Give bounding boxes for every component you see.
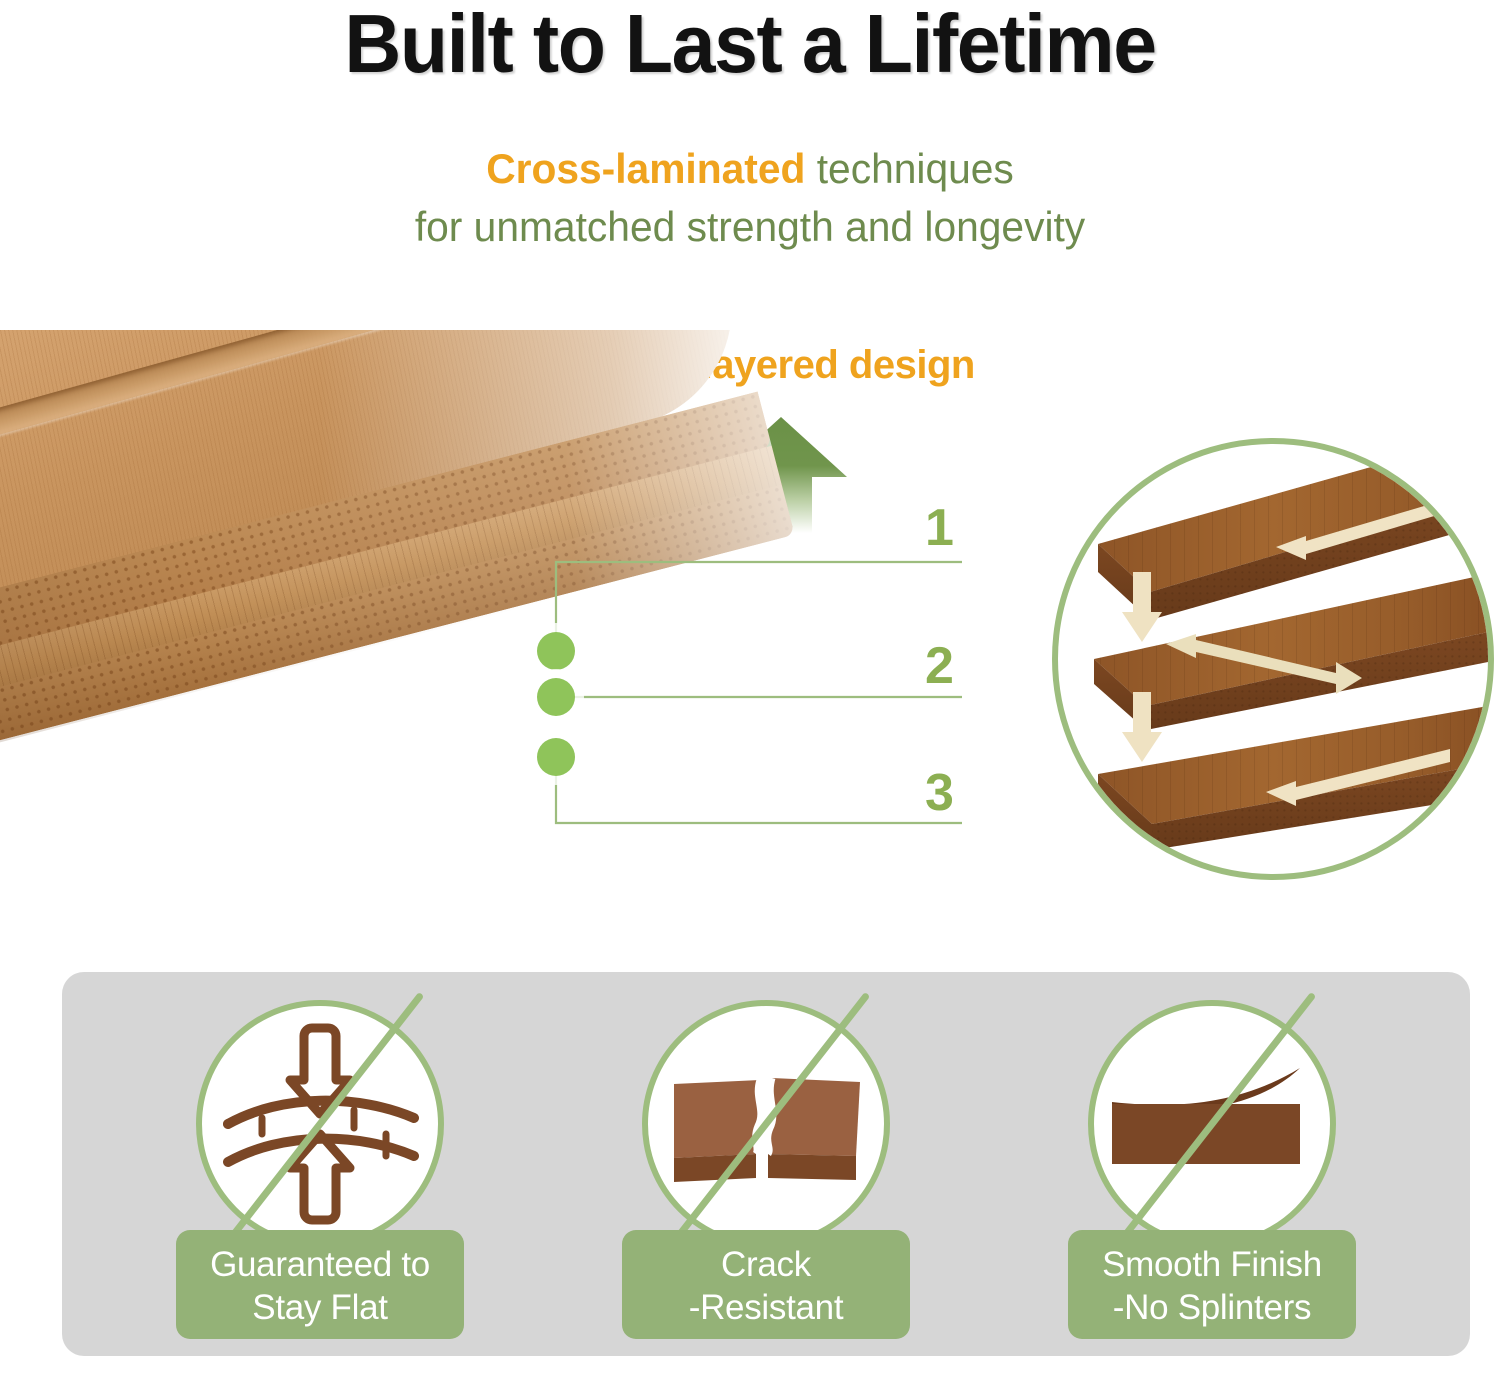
feature-label-line-2: -Resistant bbox=[630, 1287, 902, 1330]
subtitle-line-1-rest: techniques bbox=[805, 145, 1013, 192]
callout-number-1: 1 bbox=[925, 502, 954, 554]
layer-marker-dot-icon bbox=[537, 678, 575, 716]
feature-label-line-1: Crack bbox=[630, 1244, 902, 1287]
board-body bbox=[0, 330, 788, 760]
subtitle-emphasis: Cross-laminated bbox=[486, 145, 805, 192]
bamboo-board-photo bbox=[0, 330, 840, 910]
feature-card-smooth-finish[interactable]: Smooth Finish -No Splinters bbox=[1042, 972, 1382, 1356]
exploded-layers-diagram-icon bbox=[1052, 438, 1494, 880]
feature-card-no-warping[interactable]: Guaranteed to Stay Flat bbox=[150, 972, 490, 1356]
feature-label-line-2: -No Splinters bbox=[1076, 1287, 1348, 1330]
feature-card-crack-resistant[interactable]: Crack -Resistant bbox=[596, 972, 936, 1356]
layer-marker-dot-icon bbox=[537, 738, 575, 776]
feature-label-crack-resistant: Crack -Resistant bbox=[622, 1230, 910, 1339]
feature-label-smooth-finish: Smooth Finish -No Splinters bbox=[1068, 1230, 1356, 1339]
no-splinter-icon bbox=[1088, 1000, 1336, 1248]
feature-label-line-1: Smooth Finish bbox=[1076, 1244, 1348, 1287]
feature-label-line-1: Guaranteed to bbox=[184, 1244, 456, 1287]
feature-panel: Guaranteed to Stay Flat Crack bbox=[62, 972, 1470, 1356]
layer-marker-dot-icon bbox=[537, 632, 575, 670]
no-warping-icon bbox=[196, 1000, 444, 1248]
no-crack-icon bbox=[642, 1000, 890, 1248]
feature-label-line-2: Stay Flat bbox=[184, 1287, 456, 1330]
subtitle-line-2: for unmatched strength and longevity bbox=[23, 198, 1478, 256]
subtitle-block: Cross-laminated techniques for unmatched… bbox=[23, 140, 1478, 256]
exploded-layers-svg bbox=[1058, 444, 1488, 874]
callout-number-2: 2 bbox=[925, 640, 954, 692]
callout-number-3: 3 bbox=[925, 767, 954, 819]
page-title: Built to Last a Lifetime bbox=[38, 2, 1463, 85]
subtitle-line-1: Cross-laminated techniques bbox=[23, 140, 1478, 198]
feature-label-no-warping: Guaranteed to Stay Flat bbox=[176, 1230, 464, 1339]
